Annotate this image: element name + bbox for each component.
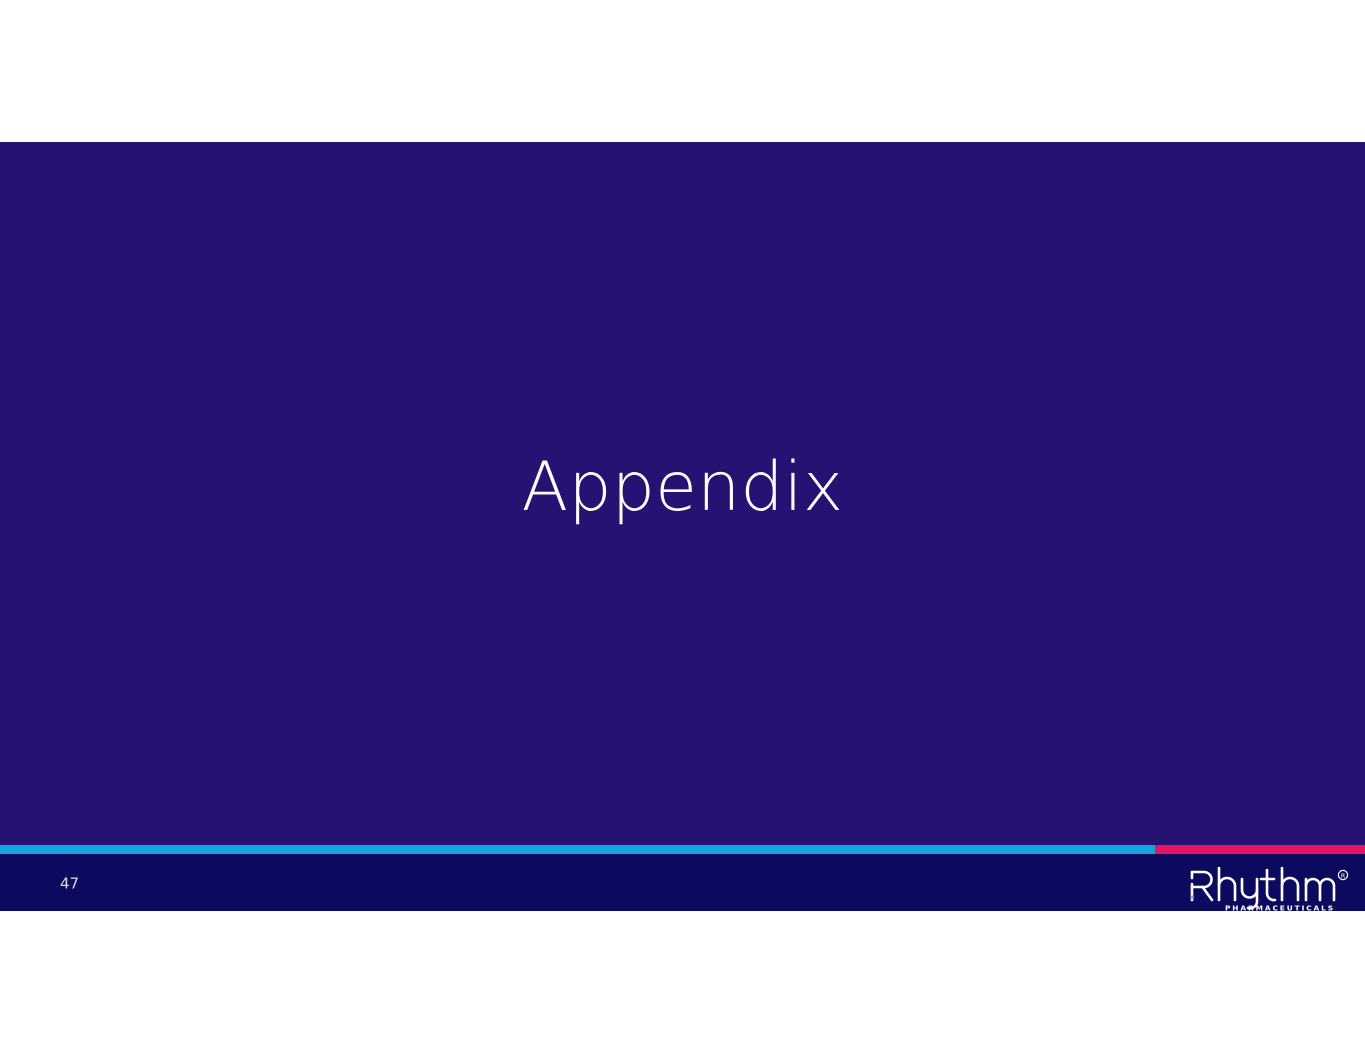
- accent-bar-pink-segment: [1155, 845, 1365, 854]
- svg-text:R: R: [1341, 873, 1346, 880]
- slide-footer: 47: [0, 854, 1365, 911]
- rhythm-logo-tagline: PHARMACEUTICALS: [1225, 903, 1335, 911]
- accent-bar-cyan-segment: [0, 845, 1155, 854]
- rhythm-logo-icon: R PHARMACEUTICALS: [1183, 862, 1365, 911]
- accent-bar: [0, 845, 1365, 854]
- rhythm-pharmaceuticals-logo: R PHARMACEUTICALS: [1183, 862, 1365, 911]
- page-title: Appendix: [522, 454, 844, 522]
- page-number: 47: [60, 877, 79, 892]
- rhythm-logo-dot: [1190, 896, 1193, 899]
- slide-canvas: Appendix 47: [0, 142, 1365, 911]
- slide-body: Appendix: [0, 142, 1365, 845]
